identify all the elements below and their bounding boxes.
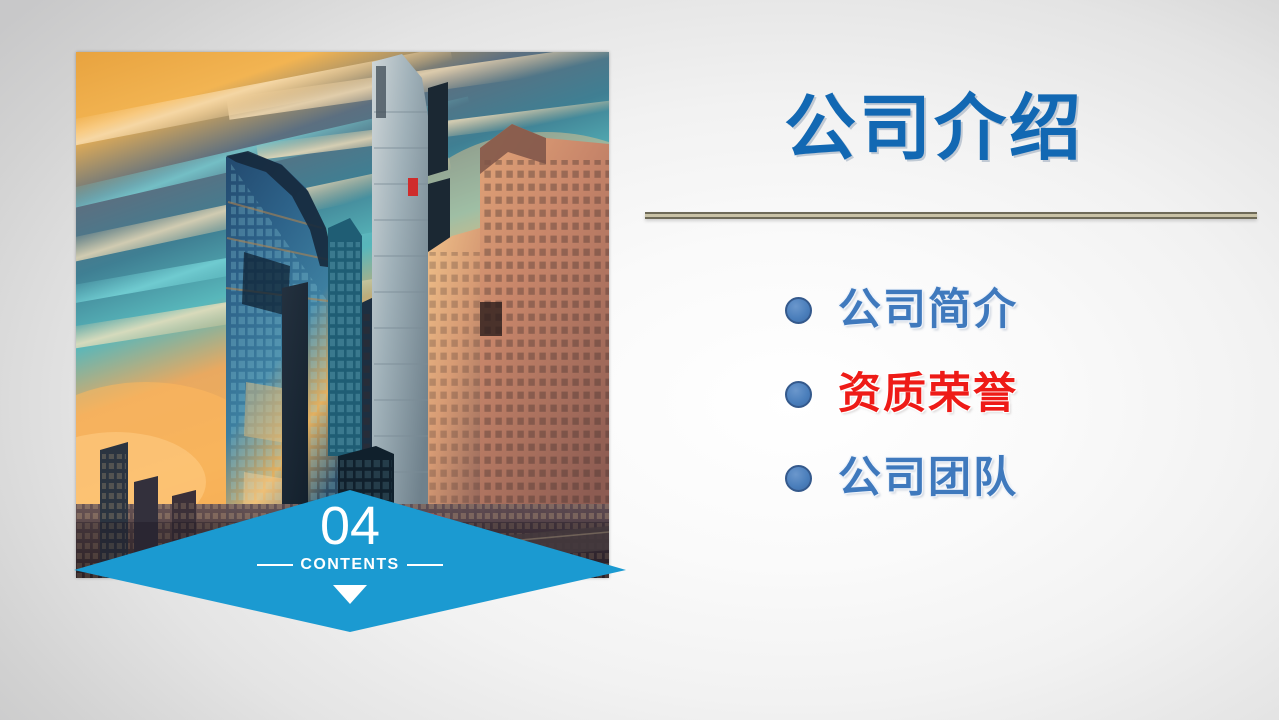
rule-left — [257, 564, 293, 566]
rule-right — [407, 564, 443, 566]
bullet-circle-icon — [785, 381, 812, 408]
title-divider — [645, 212, 1257, 219]
menu-item-company-team[interactable]: 公司团队 — [785, 453, 1018, 503]
presentation-slide: 04 CONTENTS 公司介绍 公司简介 资质荣誉 公司团队 — [0, 0, 1279, 720]
contents-label: CONTENTS — [300, 556, 399, 574]
menu-item-company-profile[interactable]: 公司简介 — [785, 285, 1018, 335]
menu-item-qualifications-honors[interactable]: 资质荣誉 — [785, 369, 1018, 419]
menu-item-label: 资质荣誉 — [838, 369, 1018, 419]
bullet-circle-icon — [785, 465, 812, 492]
menu-item-label: 公司团队 — [838, 453, 1018, 503]
triangle-down-icon — [333, 585, 367, 604]
menu-item-label: 公司简介 — [838, 285, 1018, 335]
section-menu: 公司简介 资质荣誉 公司团队 — [785, 285, 1018, 503]
contents-badge: 04 CONTENTS — [74, 490, 626, 632]
contents-label-row: CONTENTS — [257, 556, 442, 574]
right-content-column: 公司介绍 公司简介 资质荣誉 公司团队 — [640, 70, 1260, 590]
section-number: 04 — [320, 498, 380, 554]
bullet-circle-icon — [785, 297, 812, 324]
page-title: 公司介绍 — [784, 88, 1084, 170]
